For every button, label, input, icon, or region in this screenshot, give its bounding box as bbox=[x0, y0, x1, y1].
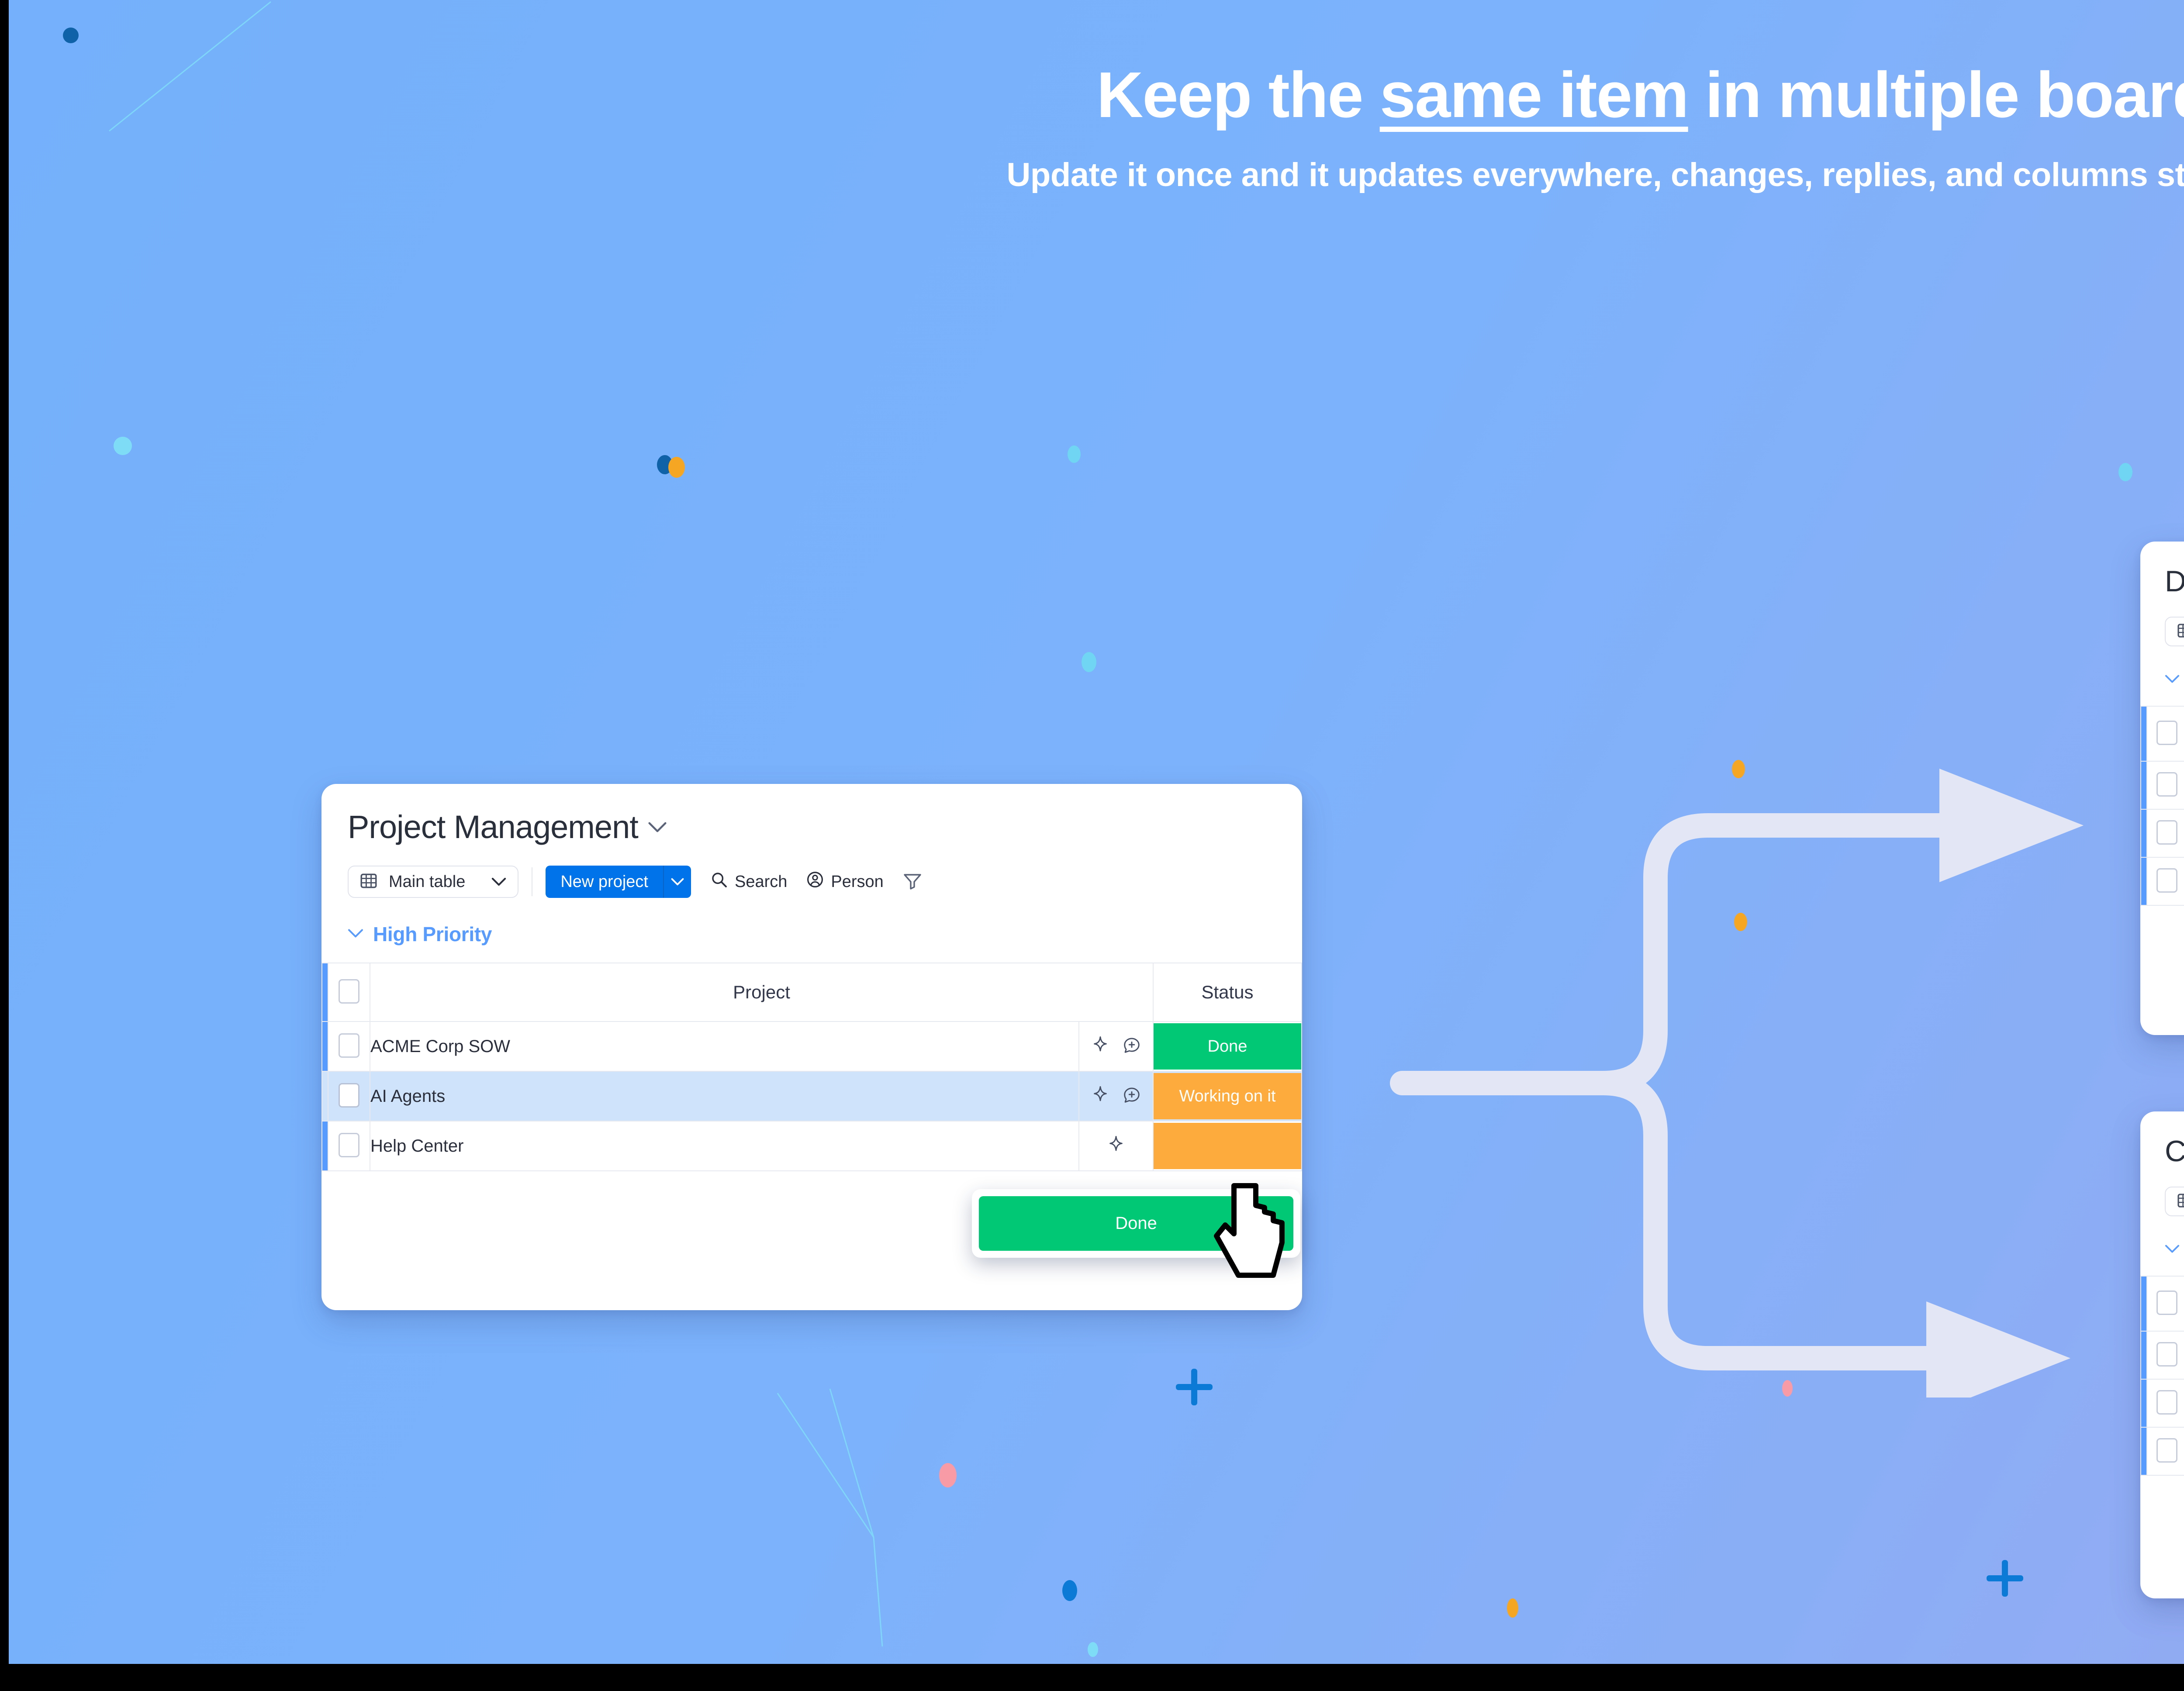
board-header: Project Management bbox=[348, 808, 1276, 845]
row-accent bbox=[322, 1022, 328, 1071]
group-header[interactable]: High Priority bbox=[348, 922, 1276, 946]
decor-dot-orange bbox=[668, 457, 685, 478]
headline-part-1: Keep the bbox=[1097, 59, 1380, 131]
board-table: Item Status Mobile App Change Requests P… bbox=[2140, 1276, 2184, 1476]
person-label: Person bbox=[831, 873, 883, 891]
row-item-name[interactable]: AI Agents bbox=[370, 1071, 1079, 1121]
decor-plus-icon bbox=[1987, 1560, 2023, 1597]
decor-dot-pink bbox=[939, 1463, 957, 1487]
board-table: Item Status Mobile App Change Requests S… bbox=[2140, 706, 2184, 906]
decor-dot-orange bbox=[1507, 1598, 1518, 1618]
hero-text-block: Keep the same item in multiple boards. U… bbox=[9, 61, 2184, 194]
table-row[interactable]: AI Agents Working on it bbox=[322, 1071, 1302, 1121]
table-header-row: Project Status bbox=[322, 963, 1302, 1022]
person-icon bbox=[806, 871, 824, 893]
board-title: Customer Success bbox=[2165, 1134, 2184, 1168]
table-grid-icon bbox=[360, 872, 377, 892]
row-icons[interactable] bbox=[1079, 1071, 1153, 1121]
column-header-status: Status bbox=[1153, 963, 1302, 1022]
table-row[interactable]: ❯ACME Corp Phase 1 Develop…1 Working on … bbox=[2141, 809, 2184, 857]
chevron-down-icon[interactable] bbox=[348, 928, 363, 940]
row-checkbox[interactable] bbox=[339, 1033, 359, 1058]
group-color-accent bbox=[322, 963, 328, 1022]
chevron-down-icon[interactable] bbox=[2165, 1244, 2180, 1256]
row-checkbox-cell[interactable] bbox=[2147, 1379, 2184, 1427]
row-checkbox[interactable] bbox=[2156, 868, 2177, 893]
decor-dot bbox=[114, 437, 132, 455]
row-checkbox-cell[interactable] bbox=[2147, 857, 2184, 905]
table-row[interactable]: Mobile App Change Requests Pending bbox=[2141, 1331, 2184, 1379]
branching-arrow-connector bbox=[1358, 742, 2145, 1398]
board-toolbar: Main table New project bbox=[348, 866, 1276, 898]
row-checkbox-cell[interactable] bbox=[2147, 1331, 2184, 1379]
status-badge: Working on it bbox=[1154, 1123, 1301, 1169]
comment-add-icon[interactable] bbox=[1122, 1085, 1142, 1108]
page-subtitle: Update it once and it updates everywhere… bbox=[9, 156, 2184, 194]
slide-canvas: Keep the same item in multiple boards. U… bbox=[9, 0, 2184, 1664]
table-row[interactable]: AI Agents Done bbox=[2141, 857, 2184, 905]
screenshot-stage: Keep the same item in multiple boards. U… bbox=[0, 0, 2184, 1691]
decor-dot bbox=[2118, 463, 2132, 481]
row-item-name[interactable]: ACME Corp SOW bbox=[370, 1022, 1079, 1071]
board-table: Project Status ACME Corp SOW Done AI Age… bbox=[321, 963, 1302, 1171]
new-project-button[interactable]: New project bbox=[546, 866, 691, 898]
status-option-done[interactable]: Done bbox=[979, 1196, 1293, 1251]
status-change-popup[interactable]: Done bbox=[972, 1189, 1300, 1258]
row-checkbox-cell[interactable] bbox=[328, 1071, 370, 1121]
decor-dot-blue bbox=[1062, 1580, 1077, 1601]
row-checkbox-cell[interactable] bbox=[2147, 1427, 2184, 1475]
board-title: Development bbox=[2165, 564, 2184, 598]
row-accent bbox=[322, 1071, 328, 1121]
person-button[interactable]: Person bbox=[806, 871, 883, 893]
chevron-down-icon[interactable] bbox=[648, 821, 667, 833]
select-all-header[interactable] bbox=[2147, 1276, 2184, 1331]
status-badge: Done bbox=[1154, 1023, 1301, 1070]
board-header: Customer Success bbox=[2165, 1134, 2184, 1168]
new-project-label: New project bbox=[546, 866, 663, 898]
row-checkbox[interactable] bbox=[339, 1083, 359, 1108]
board-toolbar: Main table New item bbox=[2165, 1187, 2184, 1216]
board-toolbar: Main table New item bbox=[2165, 617, 2184, 646]
row-checkbox[interactable] bbox=[2156, 1438, 2177, 1463]
row-accent bbox=[2141, 1379, 2147, 1427]
status-badge: Working on it bbox=[1154, 1073, 1301, 1119]
headline-part-2: in multiple boards. bbox=[1688, 59, 2184, 131]
row-checkbox-cell[interactable] bbox=[2147, 809, 2184, 857]
row-checkbox-cell[interactable] bbox=[2147, 761, 2184, 809]
table-row[interactable]: Mobile App Change Requests Stuck bbox=[2141, 761, 2184, 809]
view-selector[interactable]: Main table bbox=[2165, 617, 2184, 646]
select-all-checkbox[interactable] bbox=[339, 979, 359, 1004]
select-all-header[interactable] bbox=[328, 963, 370, 1022]
decor-dot bbox=[1082, 652, 1096, 672]
row-accent bbox=[2141, 1331, 2147, 1379]
view-selector[interactable]: Main table bbox=[348, 866, 518, 898]
row-accent bbox=[2141, 857, 2147, 905]
select-all-checkbox[interactable] bbox=[2156, 1291, 2177, 1315]
row-checkbox[interactable] bbox=[339, 1133, 359, 1157]
row-accent bbox=[2141, 809, 2147, 857]
group-color-accent bbox=[2141, 1276, 2147, 1331]
table-header-row: Item Status bbox=[2141, 1276, 2184, 1331]
select-all-header[interactable] bbox=[2147, 706, 2184, 761]
row-accent bbox=[322, 1121, 328, 1171]
select-all-checkbox[interactable] bbox=[2156, 721, 2177, 745]
group-color-accent bbox=[2141, 706, 2147, 761]
group-header[interactable]: Developments for Projects bbox=[2165, 669, 2184, 691]
table-header-row: Item Status bbox=[2141, 706, 2184, 761]
row-checkbox[interactable] bbox=[2156, 820, 2177, 845]
sparkle-icon[interactable] bbox=[1090, 1085, 1110, 1108]
headline-emphasis: same item bbox=[1380, 59, 1688, 131]
row-status-cell[interactable]: Working on it bbox=[1153, 1071, 1302, 1121]
table-row[interactable]: ACME Corp SOW Done bbox=[322, 1022, 1302, 1071]
filter-icon bbox=[903, 872, 922, 892]
filter-button[interactable] bbox=[903, 872, 922, 892]
row-checkbox[interactable] bbox=[2156, 772, 2177, 797]
board-header: Development bbox=[2165, 564, 2184, 598]
row-status-cell[interactable]: Working on it bbox=[1153, 1121, 1302, 1171]
row-item-name[interactable]: Help Center bbox=[370, 1121, 1079, 1171]
table-row[interactable]: Web App Enchancements Working on it bbox=[2141, 1379, 2184, 1427]
column-header-item: Project bbox=[370, 963, 1153, 1022]
board-title: Project Management bbox=[348, 808, 638, 845]
row-checkbox[interactable] bbox=[2156, 1342, 2177, 1367]
search-label: Search bbox=[735, 873, 787, 891]
table-row[interactable]: Help Center Working on it bbox=[322, 1121, 1302, 1171]
search-button[interactable]: Search bbox=[710, 871, 787, 893]
search-icon bbox=[710, 871, 728, 893]
group-name: High Priority bbox=[373, 922, 492, 946]
decor-dot bbox=[1088, 1642, 1098, 1657]
row-icons[interactable] bbox=[1079, 1121, 1153, 1171]
comment-add-icon[interactable] bbox=[1122, 1035, 1142, 1058]
board-card-development[interactable]: Development Main table New ite bbox=[2140, 542, 2184, 1035]
group-header[interactable]: Change Requests bbox=[2165, 1239, 2184, 1261]
row-accent bbox=[2141, 761, 2147, 809]
decor-plus-icon bbox=[1176, 1369, 1213, 1405]
row-checkbox-cell[interactable] bbox=[328, 1121, 370, 1171]
sparkle-icon[interactable] bbox=[1090, 1035, 1110, 1058]
sparkle-icon[interactable] bbox=[1106, 1135, 1126, 1157]
chevron-down-icon[interactable] bbox=[2165, 674, 2180, 686]
row-icons[interactable] bbox=[1079, 1022, 1153, 1071]
table-grid-icon bbox=[2177, 622, 2184, 641]
view-selector-label: Main table bbox=[389, 873, 465, 891]
table-row[interactable]: AI Agents Done bbox=[2141, 1427, 2184, 1475]
view-selector[interactable]: Main table bbox=[2165, 1187, 2184, 1216]
chevron-down-icon[interactable] bbox=[664, 866, 691, 898]
table-grid-icon bbox=[2177, 1192, 2184, 1211]
board-card-customer-success[interactable]: Customer Success Main table Ne bbox=[2140, 1111, 2184, 1598]
decor-dot bbox=[63, 28, 79, 43]
page-title: Keep the same item in multiple boards. bbox=[9, 61, 2184, 129]
decor-dot bbox=[1068, 445, 1081, 463]
row-checkbox[interactable] bbox=[2156, 1390, 2177, 1415]
toolbar-divider bbox=[532, 867, 532, 896]
row-accent bbox=[2141, 1427, 2147, 1475]
row-status-cell[interactable]: Done bbox=[1153, 1022, 1302, 1071]
row-checkbox-cell[interactable] bbox=[328, 1022, 370, 1071]
chevron-down-icon[interactable] bbox=[491, 877, 506, 886]
